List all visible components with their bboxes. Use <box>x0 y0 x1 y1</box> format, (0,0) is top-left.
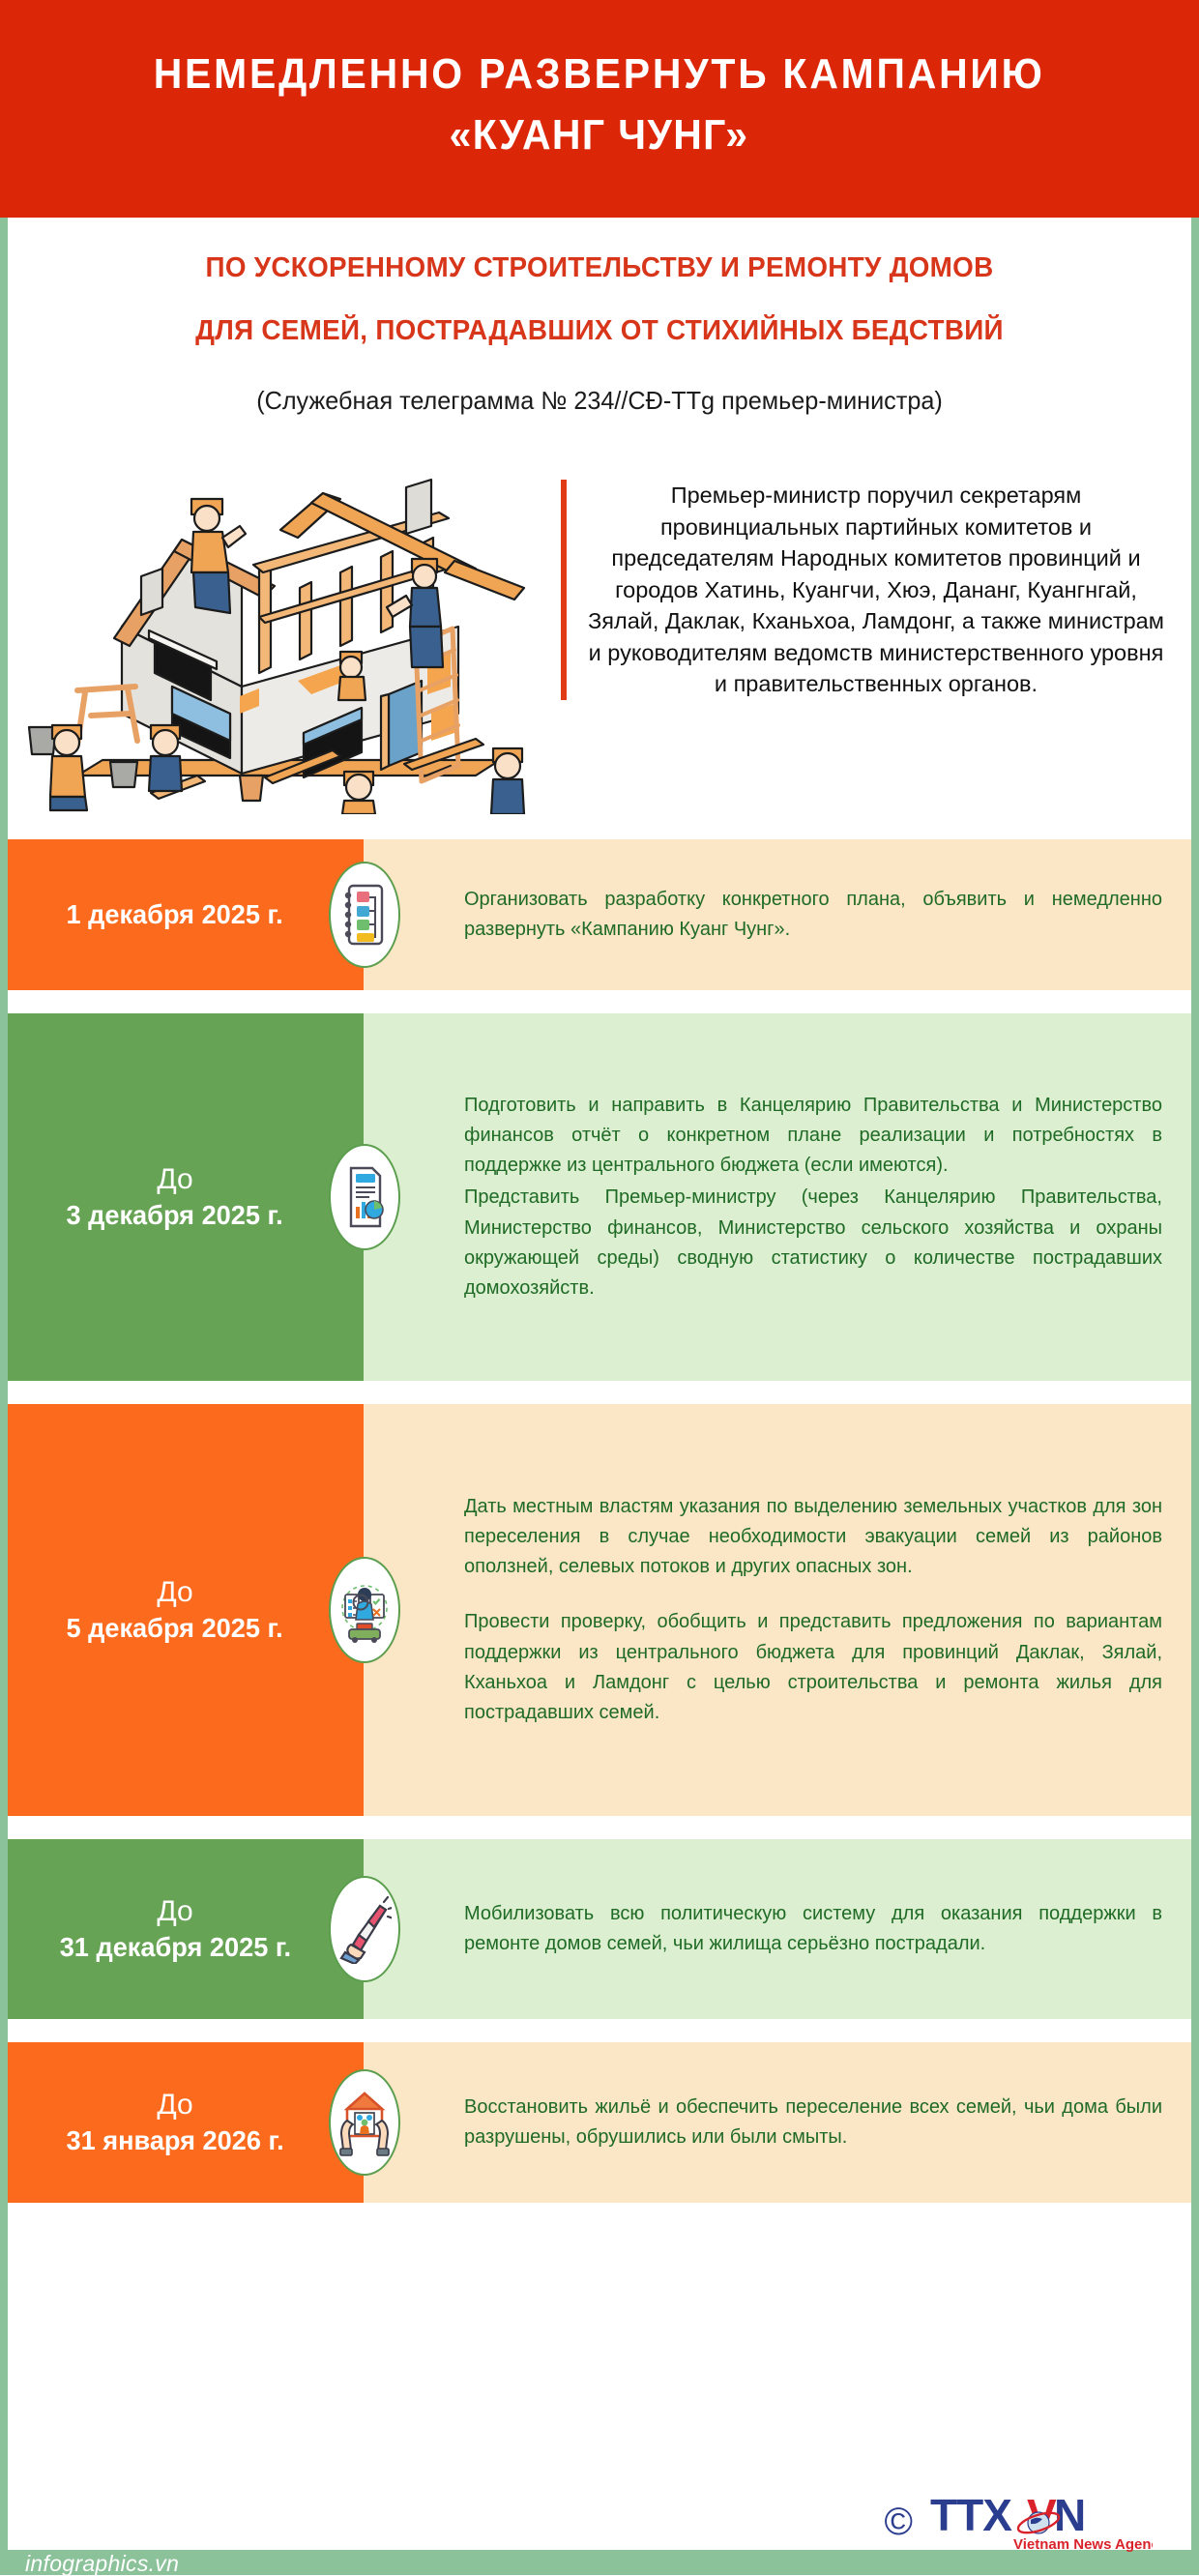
timeline-list: 1 декабря 2025 г. <box>8 839 1191 2203</box>
date-prefix: До <box>157 1895 192 1928</box>
timeline-row-4: До 31 декабря 2025 г. <box>8 1839 1191 2019</box>
house-construction-illustration <box>21 437 551 814</box>
timeline-row-1: 1 декабря 2025 г. <box>8 839 1191 990</box>
timeline-paragraph: Организовать разработку конкретного план… <box>464 885 1162 945</box>
content-sheet: ПО УСКОРЕННОМУ СТРОИТЕЛЬСТВУ И РЕМОНТУ Д… <box>8 218 1191 2495</box>
megaphone-icon <box>329 1876 400 1982</box>
svg-text:Vietnam News Agency: Vietnam News Agency <box>1013 2536 1153 2553</box>
date-label: 31 января 2026 г. <box>66 2125 283 2156</box>
date-prefix: До <box>157 2089 192 2122</box>
body-column: Подготовить и направить в Канцелярию Пра… <box>364 1013 1191 1381</box>
footer: infographics.vn © TTX V N Vietnam News A… <box>8 2495 1191 2575</box>
date-label: 3 декабря 2025 г. <box>67 1200 283 1231</box>
infographics-site-label: infographics.vn <box>25 2553 179 2575</box>
intro-paragraph: Премьер-министр поручил секретарям прови… <box>582 480 1170 700</box>
body-column: Дать местным властям указания по выделен… <box>364 1404 1191 1816</box>
date-column: До 31 декабря 2025 г. <box>8 1839 364 2019</box>
inspection-survey-icon <box>329 1557 400 1663</box>
intro-block: Премьер-министр поручил секретарям прови… <box>8 416 1191 814</box>
subtitle-line-2: ДЛЯ СЕМЕЙ, ПОСТРАДАВШИХ ОТ СТИХИЙНЫХ БЕД… <box>63 317 1136 345</box>
infographic-page: НЕМЕДЛЕННО РАЗВЕРНУТЬ КАМПАНИЮ «КУАНГ ЧУ… <box>0 0 1199 2575</box>
header-title-line2: «КУАНГ ЧУНГ» <box>450 105 749 165</box>
timeline-row-2: До 3 декабря 2025 г. <box>8 1013 1191 1381</box>
timeline-paragraph: Подготовить и направить в Канцелярию Пра… <box>464 1091 1162 1182</box>
date-label: 31 декабря 2025 г. <box>59 1932 290 1963</box>
date-column: До 5 декабря 2025 г. <box>8 1404 364 1816</box>
date-column: До 3 декабря 2025 г. <box>8 1013 364 1381</box>
date-column: 1 декабря 2025 г. <box>8 839 364 990</box>
header-title-line1: НЕМЕДЛЕННО РАЗВЕРНУТЬ КАМПАНИЮ <box>154 44 1045 104</box>
timeline-row-5: До 31 января 2026 г. <box>8 2042 1191 2203</box>
date-prefix: До <box>157 1576 192 1609</box>
intro-accent-rule <box>561 480 567 700</box>
body-column: Восстановить жильё и обеспечить переселе… <box>364 2042 1191 2203</box>
timeline-paragraph: Восстановить жильё и обеспечить переселе… <box>464 2093 1162 2152</box>
timeline-paragraph: Провести проверку, обобщить и представит… <box>464 1607 1162 1728</box>
svg-text:TTX: TTX <box>930 2490 1012 2540</box>
date-prefix: До <box>157 1163 192 1196</box>
header-banner: НЕМЕДЛЕННО РАЗВЕРНУТЬ КАМПАНИЮ «КУАНГ ЧУ… <box>0 0 1199 218</box>
date-label: 1 декабря 2025 г. <box>67 899 283 930</box>
timeline-paragraph: Представить Премьер-министру (через Канц… <box>464 1183 1162 1303</box>
date-label: 5 декабря 2025 г. <box>67 1613 283 1644</box>
home-in-hands-icon <box>329 2069 400 2176</box>
telegram-reference: (Служебная телеграмма № 234//CĐ-TTg прем… <box>57 386 1141 416</box>
timeline-row-3: До 5 декабря 2025 г. <box>8 1404 1191 1816</box>
timeline-paragraph: Дать местным властям указания по выделен… <box>464 1492 1162 1583</box>
subtitle-line-1: ПО УСКОРЕННОМУ СТРОИТЕЛЬСТВУ И РЕМОНТУ Д… <box>63 254 1136 282</box>
body-column: Организовать разработку конкретного план… <box>364 839 1191 990</box>
vna-logo-block: © TTX V N Vietnam News Agency <box>885 2490 1153 2554</box>
body-column: Мобилизовать всю политическую систему дл… <box>364 1839 1191 2019</box>
checklist-plan-icon <box>329 862 400 968</box>
subtitle-block: ПО УСКОРЕННОМУ СТРОИТЕЛЬСТВУ И РЕМОНТУ Д… <box>8 218 1191 416</box>
date-column: До 31 января 2026 г. <box>8 2042 364 2203</box>
copyright-icon: © <box>885 2503 913 2541</box>
timeline-paragraph: Мобилизовать всю политическую систему дл… <box>464 1899 1162 1959</box>
report-document-chart-icon <box>329 1144 400 1250</box>
ttxvn-logo: TTX V N Vietnam News Agency <box>930 2490 1153 2554</box>
